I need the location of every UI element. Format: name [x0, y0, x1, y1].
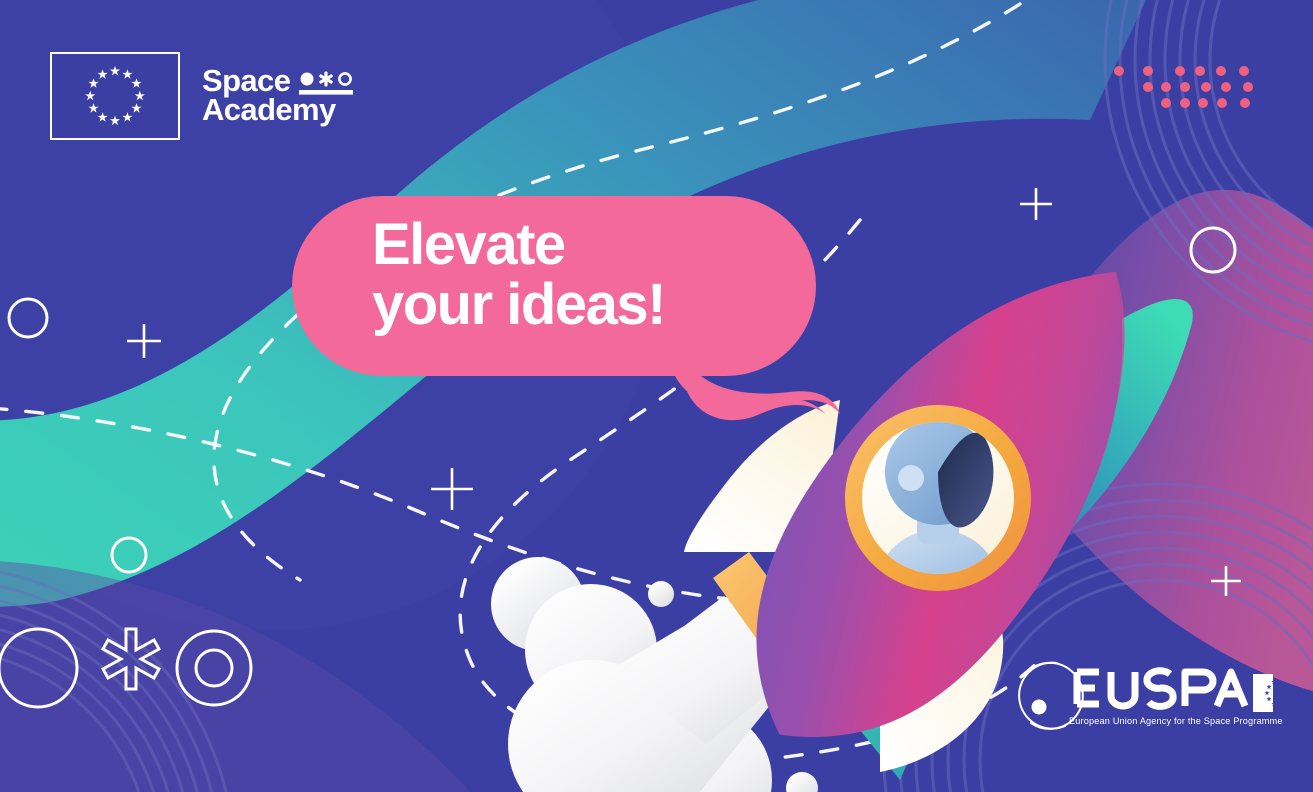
space-academy-banner: Elevate your ideas!: [0, 0, 1313, 792]
euspa-eu-flag-icon: [1253, 674, 1273, 712]
filled-circle-icon: [301, 73, 314, 86]
euspa-acronym-letters: [1077, 671, 1245, 707]
euspa-dot-icon: [1032, 700, 1047, 715]
euspa-tagline: European Union Agency for the Space Prog…: [1069, 716, 1283, 726]
headline-text: Elevate your ideas!: [372, 215, 665, 336]
asterisk-icon: [319, 72, 334, 87]
euspa-logo-graphic: [1013, 650, 1273, 740]
astronaut-visor-highlight: [898, 465, 924, 491]
euspa-logo: European Union Agency for the Space Prog…: [1013, 650, 1273, 740]
outline-circle-icon: [340, 74, 351, 85]
space-academy-wordmark: Space Academy: [202, 67, 353, 125]
european-union-flag-icon: [50, 52, 180, 140]
eu-flag-stars: [52, 54, 178, 138]
brand-lockup: Space Academy: [50, 52, 353, 140]
brand-title-line2: Academy: [202, 96, 353, 125]
